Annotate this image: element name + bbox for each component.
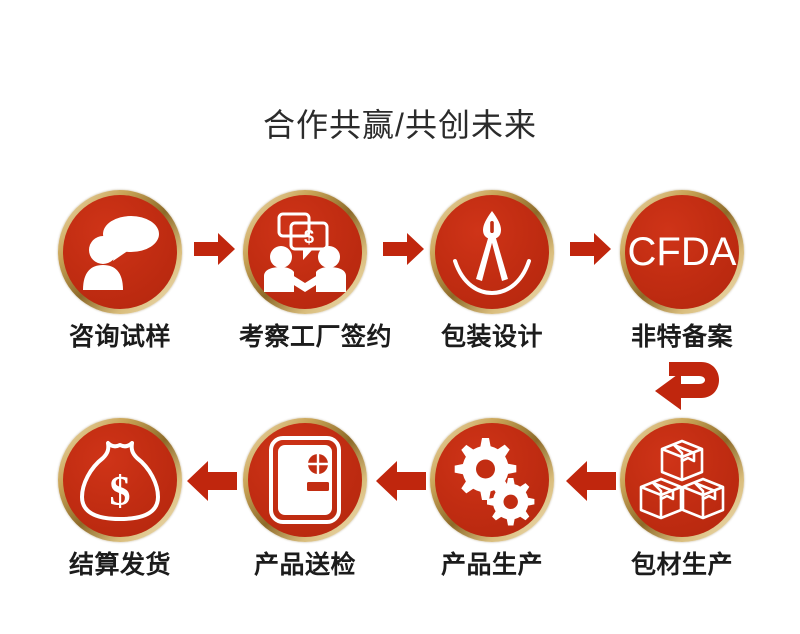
step-label: 产品生产 — [426, 550, 558, 580]
svg-text:$: $ — [304, 227, 314, 247]
step-label: 产品送检 — [239, 550, 371, 580]
step-circle: $ — [58, 418, 182, 542]
handshake-money-icon: $ — [248, 195, 362, 309]
step-circle — [620, 418, 744, 542]
page-title: 合作共赢/共创未来 — [0, 105, 800, 145]
step-label: 包装设计 — [426, 322, 558, 352]
process-flow-infographic: 合作共赢/共创未来 咨询试样 — [0, 0, 800, 634]
step-item-cfda-filing[interactable]: CFDA 非特备案 — [616, 190, 748, 352]
cfda-label: CFDA — [628, 232, 737, 272]
step-label: 非特备案 — [616, 322, 748, 352]
step-circle: $ — [243, 190, 367, 314]
step-circle — [243, 418, 367, 542]
svg-text:$: $ — [110, 469, 131, 515]
step-label: 咨询试样 — [54, 322, 186, 352]
step-circle — [430, 418, 554, 542]
step-circle — [430, 190, 554, 314]
step-item-consultation[interactable]: 咨询试样 — [54, 190, 186, 352]
arrow-left-icon — [565, 460, 617, 502]
cfda-text-icon: CFDA — [625, 195, 739, 309]
step-item-packaging-material-production[interactable]: 包材生产 — [616, 418, 748, 580]
step-item-factory-contract[interactable]: $ 考察工厂签约 — [239, 190, 371, 352]
arrow-left-icon — [186, 460, 238, 502]
arrow-right-icon — [570, 232, 612, 266]
person-speech-bubble-icon — [63, 195, 177, 309]
step-item-package-design[interactable]: 包装设计 — [426, 190, 558, 352]
compass-divider-icon — [435, 195, 549, 309]
arrow-left-icon — [375, 460, 427, 502]
step-item-settlement-shipping[interactable]: $ 结算发货 — [54, 418, 186, 580]
arrow-right-icon — [194, 232, 236, 266]
step-item-product-manufacturing[interactable]: 产品生产 — [426, 418, 558, 580]
step-item-product-inspection[interactable]: 产品送检 — [239, 418, 371, 580]
step-label: 考察工厂签约 — [239, 322, 371, 352]
step-circle: CFDA — [620, 190, 744, 314]
inspection-document-icon — [248, 423, 362, 537]
gears-icon — [435, 423, 549, 537]
step-circle — [58, 190, 182, 314]
money-bag-icon: $ — [63, 423, 177, 537]
stacked-boxes-icon — [625, 423, 739, 537]
step-label: 结算发货 — [54, 550, 186, 580]
step-label: 包材生产 — [616, 550, 748, 580]
arrow-right-icon — [383, 232, 425, 266]
arrow-uturn-icon — [645, 358, 723, 423]
